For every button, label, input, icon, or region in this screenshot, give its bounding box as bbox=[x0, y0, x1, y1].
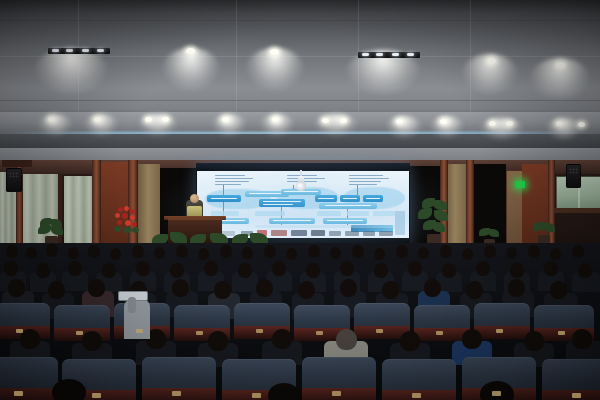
presenter-head bbox=[190, 194, 199, 203]
wall-panel-warm-right bbox=[446, 164, 466, 246]
window-sill-right bbox=[554, 208, 600, 213]
audience-area bbox=[0, 243, 600, 400]
floral-arrangement bbox=[112, 205, 142, 235]
wood-pilaster-5 bbox=[466, 160, 474, 246]
wood-pilaster-2 bbox=[92, 160, 101, 246]
audience-foreground bbox=[0, 371, 600, 400]
ceiling-projector bbox=[296, 176, 306, 191]
attendee-with-tablet bbox=[112, 291, 172, 341]
curtain-left-inner bbox=[64, 176, 94, 244]
speaker-bracket-left bbox=[2, 160, 32, 167]
screen-top-bar bbox=[196, 163, 410, 171]
exit-indicator-icon bbox=[516, 181, 525, 188]
wall-speaker-left bbox=[6, 168, 22, 192]
auditorium-photo bbox=[0, 0, 600, 400]
potted-plant-right bbox=[418, 198, 448, 246]
wall-speaker-right bbox=[566, 164, 581, 188]
potted-plant-left bbox=[38, 218, 64, 246]
